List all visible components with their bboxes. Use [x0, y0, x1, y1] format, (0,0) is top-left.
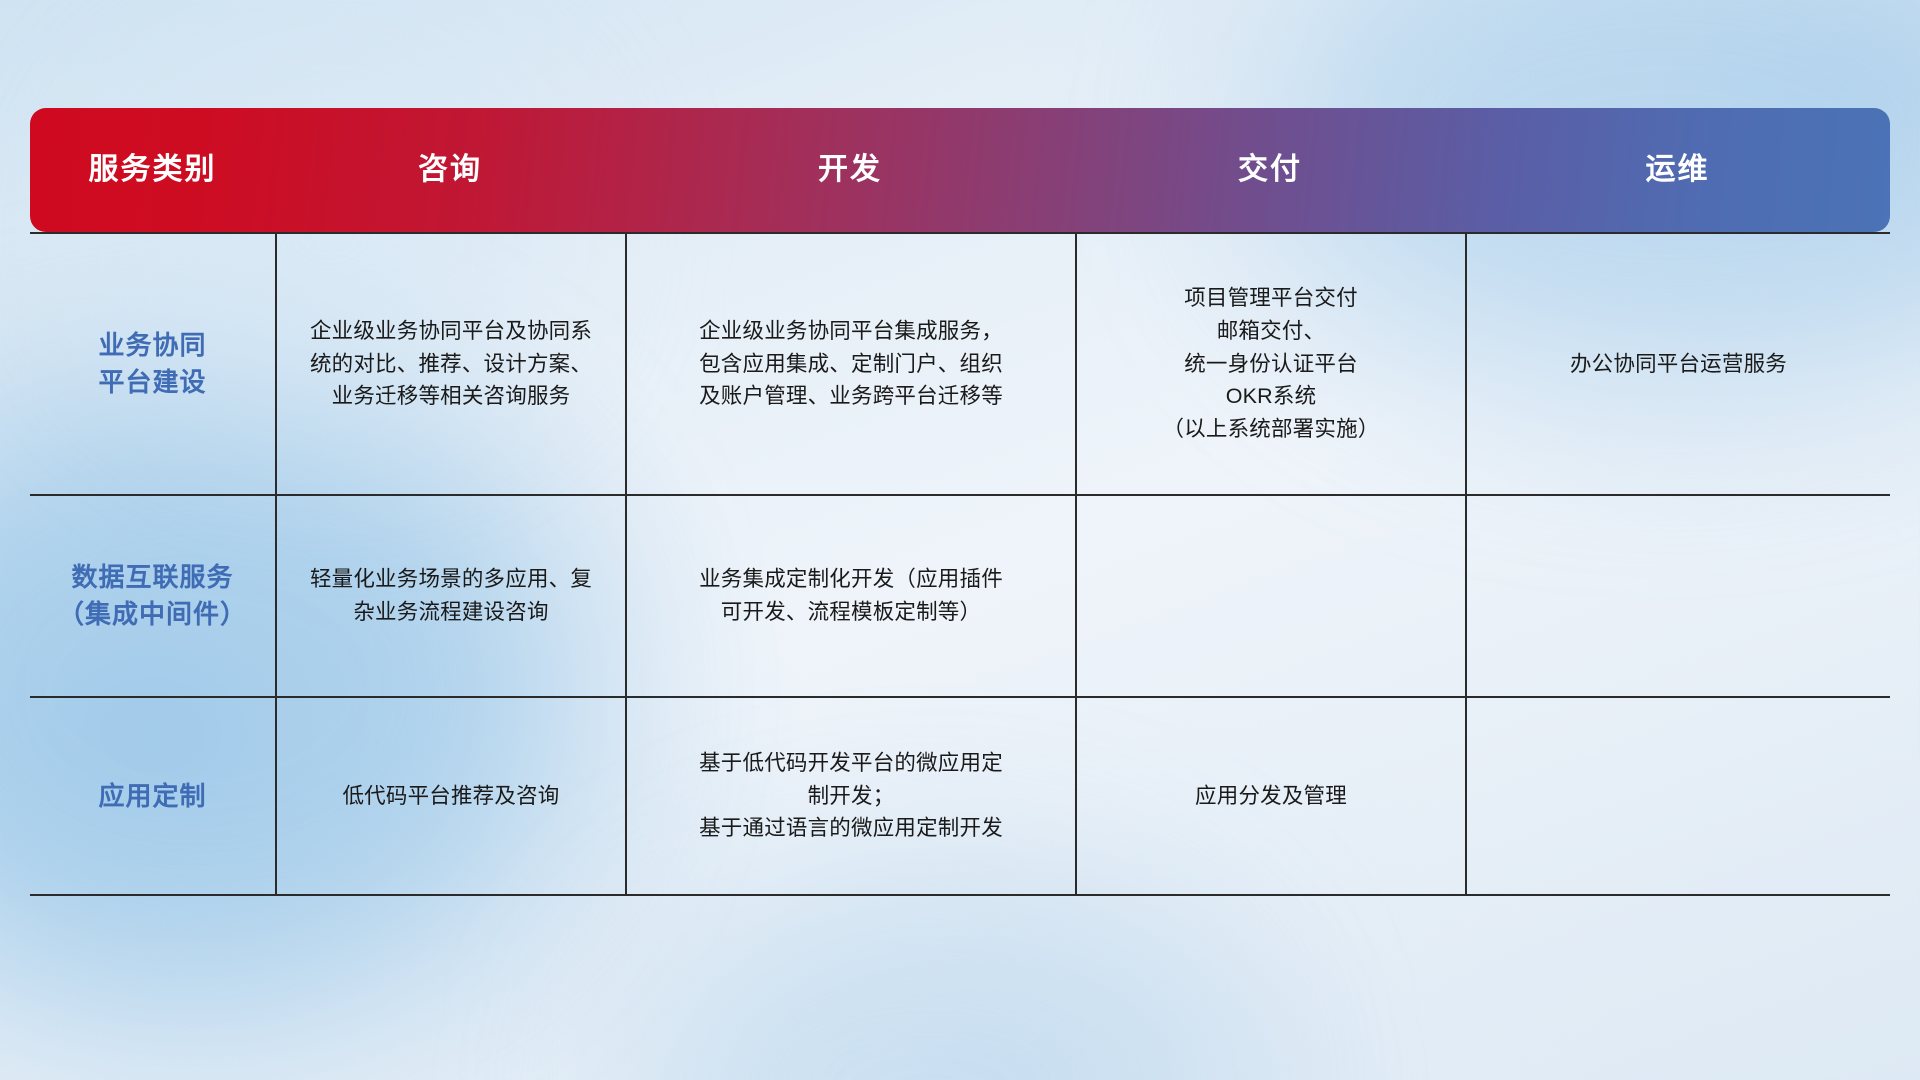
table-row: 应用定制 低代码平台推荐及咨询 基于低代码开发平台的微应用定 制开发； 基于通过…: [30, 696, 1890, 896]
row-label-line: 数据互联服务: [48, 559, 257, 596]
cell-text-line: 包含应用集成、定制门户、组织: [645, 348, 1057, 381]
row-label-line: （集成中间件）: [48, 596, 257, 633]
header-label-operations: 运维: [1465, 108, 1890, 232]
table-row: 数据互联服务 （集成中间件） 轻量化业务场景的多应用、复 杂业务流程建设咨询 业…: [30, 494, 1890, 696]
cell-text-line: 办公协同平台运营服务: [1485, 348, 1872, 381]
header-label-service-category: 服务类别: [30, 108, 275, 232]
cell-text-line: OKR系统: [1095, 380, 1447, 413]
service-matrix-container: 服务类别 咨询 开发 交付 运维 业务协同: [30, 108, 1890, 948]
header-cell-development: 开发: [625, 108, 1075, 232]
cell-consulting-row2: 轻量化业务场景的多应用、复 杂业务流程建设咨询: [275, 494, 625, 696]
cell-text-line: 业务迁移等相关咨询服务: [295, 380, 607, 413]
cell-development-row3: 基于低代码开发平台的微应用定 制开发； 基于通过语言的微应用定制开发: [625, 696, 1075, 896]
header-cell-service-category: 服务类别: [30, 108, 275, 232]
cell-text-line: 杂业务流程建设咨询: [295, 596, 607, 629]
cell-text-line: 低代码平台推荐及咨询: [295, 780, 607, 813]
cell-text-line: 制开发；: [645, 780, 1057, 813]
cell-text-line: 统一身份认证平台: [1095, 348, 1447, 381]
row-label-data-interconnect: 数据互联服务 （集成中间件）: [30, 494, 275, 696]
cell-text-line: 项目管理平台交付: [1095, 282, 1447, 315]
service-matrix-table: 服务类别 咨询 开发 交付 运维 业务协同: [30, 108, 1890, 896]
cell-consulting-row3: 低代码平台推荐及咨询: [275, 696, 625, 896]
cell-text-line: 基于通过语言的微应用定制开发: [645, 812, 1057, 845]
table-row: 业务协同 平台建设 企业级业务协同平台及协同系 统的对比、推荐、设计方案、 业务…: [30, 232, 1890, 494]
cell-text-line: 应用分发及管理: [1095, 780, 1447, 813]
header-label-delivery: 交付: [1075, 108, 1465, 232]
header-label-development: 开发: [625, 108, 1075, 232]
cell-text-line: 邮箱交付、: [1095, 315, 1447, 348]
cell-text-line: 基于低代码开发平台的微应用定: [645, 747, 1057, 780]
table-body: 业务协同 平台建设 企业级业务协同平台及协同系 统的对比、推荐、设计方案、 业务…: [30, 232, 1890, 896]
row-label-line: 业务协同: [48, 327, 257, 364]
cell-operations-row2: [1465, 494, 1890, 696]
table-header: 服务类别 咨询 开发 交付 运维: [30, 108, 1890, 232]
cell-text-line: 企业级业务协同平台集成服务，: [645, 315, 1057, 348]
cell-text-line: 可开发、流程模板定制等）: [645, 596, 1057, 629]
cell-text-line: 轻量化业务场景的多应用、复: [295, 563, 607, 596]
cell-development-row2: 业务集成定制化开发（应用插件 可开发、流程模板定制等）: [625, 494, 1075, 696]
row-label-line: 平台建设: [48, 364, 257, 401]
cell-delivery-row1: 项目管理平台交付 邮箱交付、 统一身份认证平台 OKR系统 （以上系统部署实施）: [1075, 232, 1465, 494]
header-label-consulting: 咨询: [275, 108, 625, 232]
cell-delivery-row3: 应用分发及管理: [1075, 696, 1465, 896]
header-cell-delivery: 交付: [1075, 108, 1465, 232]
cell-text-line: 及账户管理、业务跨平台迁移等: [645, 380, 1057, 413]
cell-operations-row1: 办公协同平台运营服务: [1465, 232, 1890, 494]
header-cell-consulting: 咨询: [275, 108, 625, 232]
row-label-business-collaboration: 业务协同 平台建设: [30, 232, 275, 494]
cell-text-line: 统的对比、推荐、设计方案、: [295, 348, 607, 381]
cell-operations-row3: [1465, 696, 1890, 896]
row-label-app-customization: 应用定制: [30, 696, 275, 896]
cell-delivery-row2: [1075, 494, 1465, 696]
cell-consulting-row1: 企业级业务协同平台及协同系 统的对比、推荐、设计方案、 业务迁移等相关咨询服务: [275, 232, 625, 494]
header-cell-operations: 运维: [1465, 108, 1890, 232]
cell-development-row1: 企业级业务协同平台集成服务， 包含应用集成、定制门户、组织 及账户管理、业务跨平…: [625, 232, 1075, 494]
cell-text-line: （以上系统部署实施）: [1095, 413, 1447, 446]
table-header-row: 服务类别 咨询 开发 交付 运维: [30, 108, 1890, 232]
row-label-line: 应用定制: [48, 778, 257, 815]
cell-text-line: 企业级业务协同平台及协同系: [295, 315, 607, 348]
cell-text-line: 业务集成定制化开发（应用插件: [645, 563, 1057, 596]
